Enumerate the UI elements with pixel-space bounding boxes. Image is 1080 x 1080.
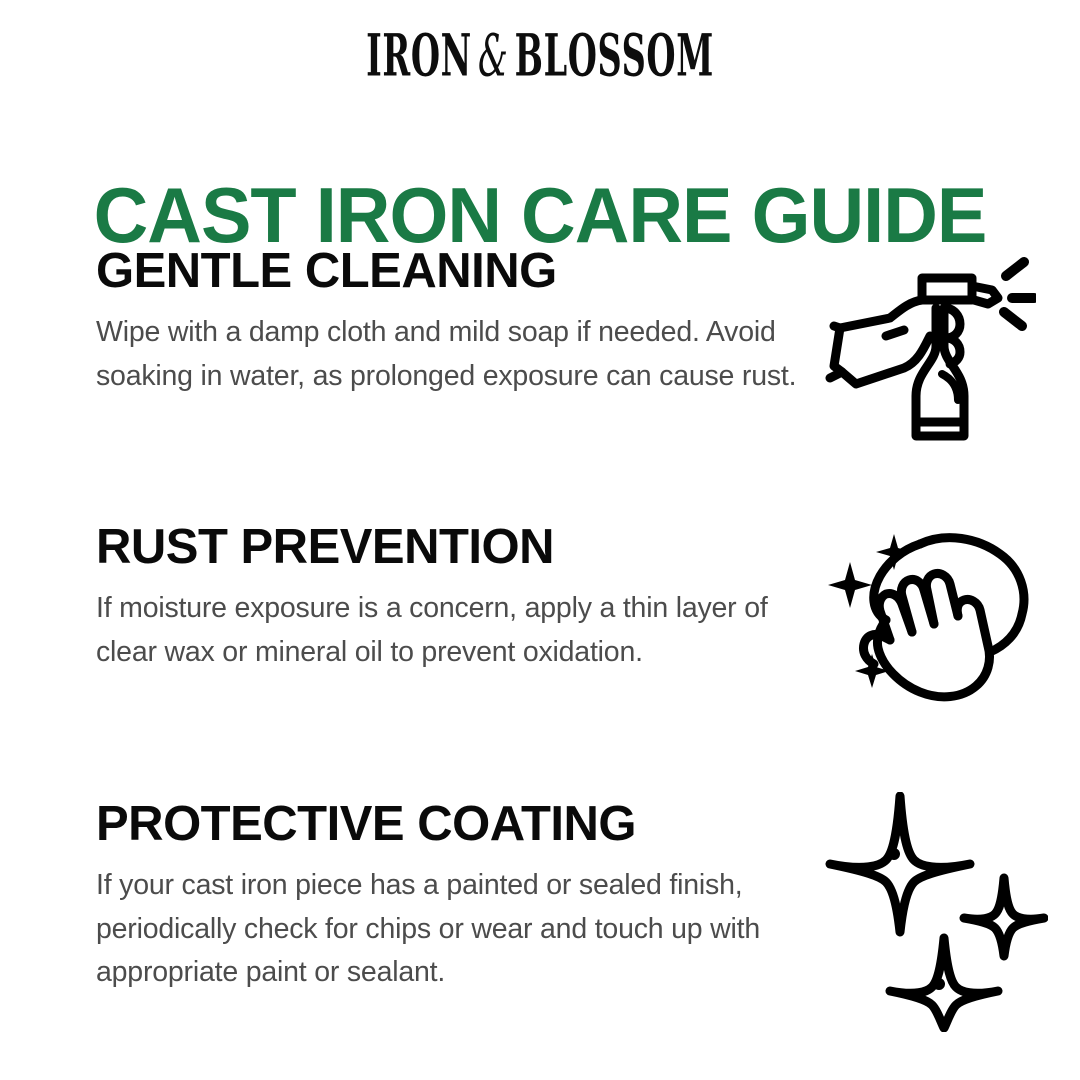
section-paragraph: If your cast iron piece has a painted or… [96, 864, 808, 995]
brand-name-part2: BLOSSOM [515, 21, 714, 90]
page-title: CAST IRON CARE GUIDE [16, 176, 1064, 254]
wiping-hand-icon [820, 528, 1036, 704]
brand-wordmark: IRON&BLOSSOM [205, 26, 875, 85]
sparkles-icon [824, 792, 1048, 1032]
section-text-column: PROTECTIVE COATING If your cast iron pie… [96, 800, 808, 995]
section-heading: GENTLE CLEANING [96, 247, 808, 297]
section-paragraph: If moisture exposure is a concern, apply… [96, 587, 808, 674]
care-guide-page: IRON&BLOSSOM CAST IRON CARE GUIDE GENTLE… [0, 0, 1080, 1080]
section-text-column: RUST PREVENTION If moisture exposure is … [96, 523, 808, 674]
section-paragraph: Wipe with a damp cloth and mild soap if … [96, 311, 808, 398]
section-heading: RUST PREVENTION [96, 523, 808, 573]
section-heading: PROTECTIVE COATING [96, 800, 808, 850]
section-text-column: GENTLE CLEANING Wipe with a damp cloth a… [96, 247, 808, 398]
brand-ampersand: & [472, 22, 515, 90]
spray-bottle-icon [812, 250, 1036, 450]
brand-name-part1: IRON [366, 21, 472, 90]
